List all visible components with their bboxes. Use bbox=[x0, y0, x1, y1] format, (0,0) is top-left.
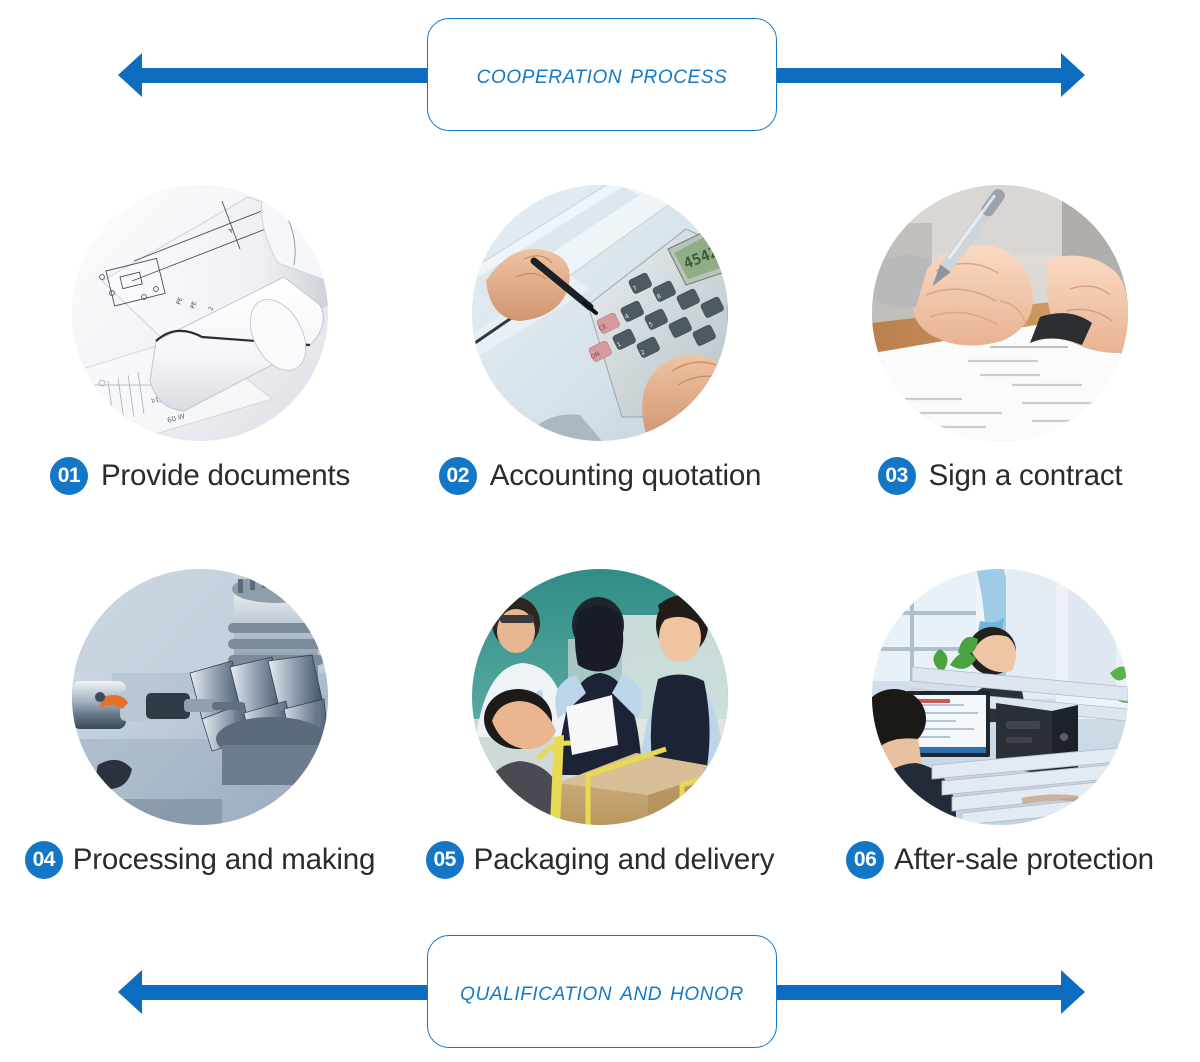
process-step-06[interactable]: 06 After-sale protection bbox=[800, 569, 1200, 879]
section-title: Qualification and honor bbox=[460, 976, 744, 1007]
arrow-left-icon bbox=[118, 970, 142, 1014]
step-label: Provide documents bbox=[101, 459, 350, 493]
step-caption: 02 Accounting quotation bbox=[439, 457, 762, 495]
banner-left-arrow-shaft bbox=[137, 68, 437, 83]
step-caption: 06 After-sale protection bbox=[846, 841, 1154, 879]
step-label: After-sale protection bbox=[894, 843, 1154, 877]
qualification-and-honor-banner: Qualification and honor bbox=[0, 922, 1200, 1062]
step-caption: 03 Sign a contract bbox=[878, 457, 1123, 495]
office-support-photo bbox=[872, 569, 1128, 825]
calculator-hands-photo: 4542 bbox=[472, 185, 728, 441]
process-step-05[interactable]: 05 Packaging and delivery bbox=[400, 569, 800, 879]
step-label: Packaging and delivery bbox=[474, 843, 775, 877]
step-caption: 01 Provide documents bbox=[50, 457, 350, 495]
step-label: Processing and making bbox=[73, 843, 375, 877]
step-caption: 04 Processing and making bbox=[25, 841, 375, 879]
step-number-badge: 06 bbox=[846, 841, 884, 879]
step-number-badge: 02 bbox=[439, 457, 477, 495]
rolled-blueprints-photo: 60 W b1 PE bbox=[72, 185, 328, 441]
process-steps-row-2: 04 Processing and making bbox=[0, 569, 1200, 879]
step-caption: 05 Packaging and delivery bbox=[426, 841, 775, 879]
process-step-01[interactable]: 60 W b1 PE bbox=[0, 185, 400, 495]
cooperation-process-banner: Cooperation process bbox=[0, 5, 1200, 145]
process-step-04[interactable]: 04 Processing and making bbox=[0, 569, 400, 879]
cnc-machining-photo bbox=[72, 569, 328, 825]
qualification-and-honor-title-box: Qualification and honor bbox=[427, 935, 777, 1048]
banner-left-arrow-shaft bbox=[137, 985, 437, 1000]
step-label: Sign a contract bbox=[929, 459, 1123, 493]
arrow-left-icon bbox=[118, 53, 142, 97]
packaging-workers-photo bbox=[472, 569, 728, 825]
step-number-badge: 05 bbox=[426, 841, 464, 879]
step-label: Accounting quotation bbox=[490, 459, 762, 493]
process-steps-row-1: 60 W b1 PE bbox=[0, 185, 1200, 495]
banner-right-arrow-shaft bbox=[770, 985, 1065, 1000]
arrow-right-icon bbox=[1061, 53, 1085, 97]
contract-signing-photo bbox=[872, 185, 1128, 441]
page-title: Cooperation process bbox=[477, 59, 728, 90]
step-number-badge: 01 bbox=[50, 457, 88, 495]
process-steps-grid: 60 W b1 PE bbox=[0, 185, 1200, 879]
banner-right-arrow-shaft bbox=[770, 68, 1065, 83]
step-number-badge: 04 bbox=[25, 841, 63, 879]
process-step-02[interactable]: 4542 bbox=[400, 185, 800, 495]
arrow-right-icon bbox=[1061, 970, 1085, 1014]
step-number-badge: 03 bbox=[878, 457, 916, 495]
cooperation-process-title-box: Cooperation process bbox=[427, 18, 777, 131]
process-step-03[interactable]: 03 Sign a contract bbox=[800, 185, 1200, 495]
